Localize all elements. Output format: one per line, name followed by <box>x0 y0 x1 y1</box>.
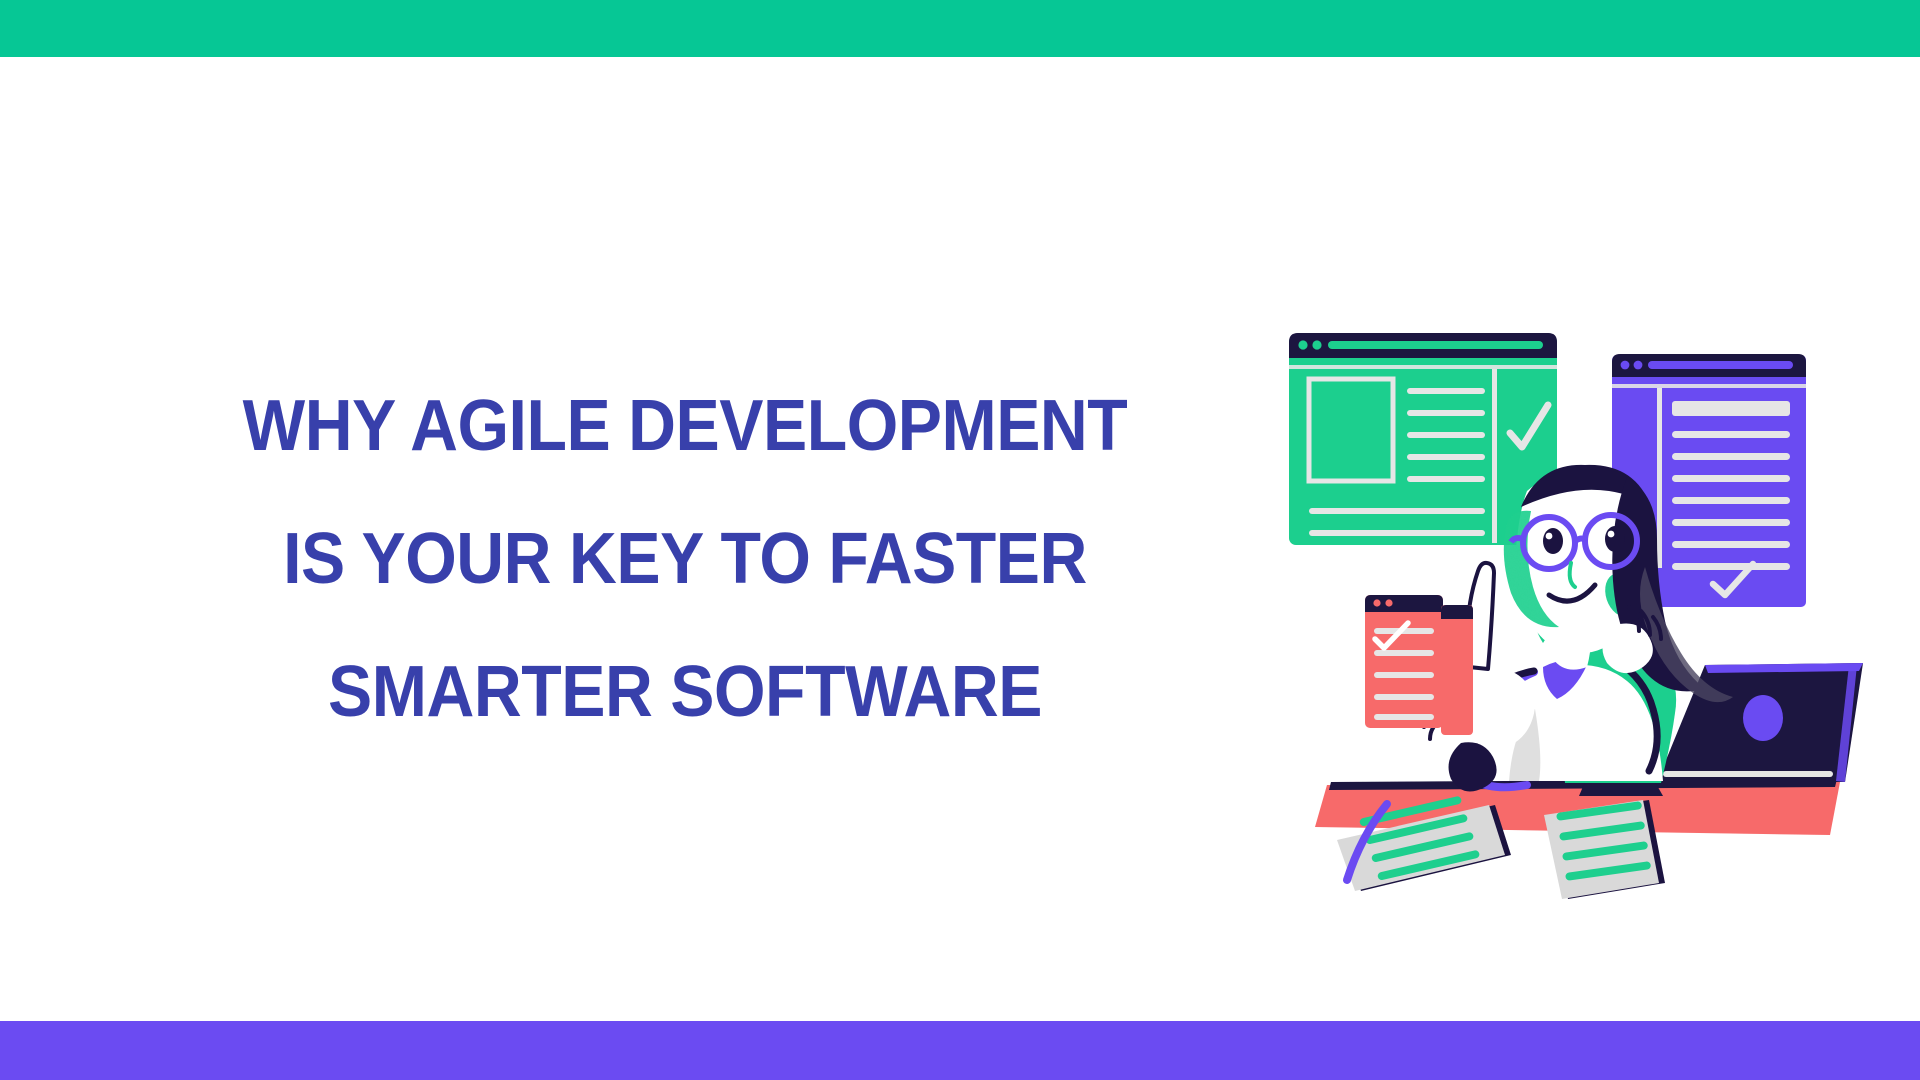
headline-line-2: IS YOUR KEY TO FASTER <box>165 493 1205 626</box>
page-title: WHY AGILE DEVELOPMENT IS YOUR KEY TO FAS… <box>120 360 1250 759</box>
laptop-logo <box>1743 695 1783 741</box>
banner-canvas: WHY AGILE DEVELOPMENT IS YOUR KEY TO FAS… <box>0 0 1920 1080</box>
bottom-accent-bar <box>0 1021 1920 1080</box>
headline-line-1: WHY AGILE DEVELOPMENT <box>165 360 1205 493</box>
eye-right <box>1605 526 1625 552</box>
laptop-keyboard-edge <box>1663 771 1833 777</box>
window-url-pill <box>1648 361 1793 369</box>
window-url-pill <box>1328 341 1543 349</box>
window-dot-1 <box>1621 361 1630 370</box>
coral-phone <box>1441 605 1473 735</box>
window-dot-1 <box>1298 340 1307 349</box>
coral-checklist-window <box>1365 595 1443 728</box>
window-dot-2 <box>1312 340 1321 349</box>
headline-line-3: SMARTER SOFTWARE <box>165 626 1205 759</box>
eye-left <box>1543 528 1563 554</box>
window-dot-2 <box>1634 361 1643 370</box>
window-dot-1 <box>1373 599 1380 606</box>
top-accent-bar <box>0 0 1920 57</box>
paper-right <box>1544 800 1665 899</box>
window-dot-2 <box>1385 599 1392 606</box>
hero-illustration <box>1285 295 1915 905</box>
